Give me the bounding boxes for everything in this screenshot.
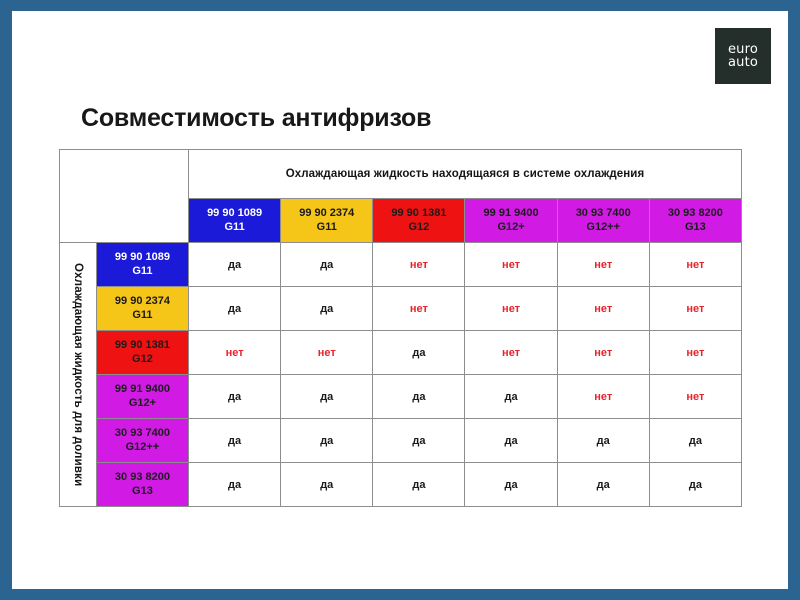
table-header-row-axis: Охлаждающая жидкость находящаяся в систе… xyxy=(60,150,742,199)
row-header-grade: G12++ xyxy=(97,441,188,455)
compatibility-cell: нет xyxy=(649,287,741,331)
table-row: Охлаждающая жидкость для доливки99 90 10… xyxy=(60,243,742,287)
row-header-grade: G12+ xyxy=(97,397,188,411)
compatibility-cell: да xyxy=(189,375,281,419)
compatibility-cell: да xyxy=(189,419,281,463)
row-header-grade: G11 xyxy=(97,265,188,279)
compatibility-cell: да xyxy=(189,243,281,287)
page-title: Совместимость антифризов xyxy=(81,104,431,133)
column-header-grade: G12++ xyxy=(558,221,649,235)
compatibility-cell: да xyxy=(373,463,465,507)
row-header-grade: G12 xyxy=(97,353,188,367)
compatibility-cell: да xyxy=(557,463,649,507)
row-header-g12[interactable]: 99 90 1381G12 xyxy=(96,331,188,375)
row-header-g12plusplus[interactable]: 30 93 7400G12++ xyxy=(96,419,188,463)
compatibility-cell: да xyxy=(373,419,465,463)
compatibility-cell: да xyxy=(281,243,373,287)
compatibility-cell: нет xyxy=(189,331,281,375)
table-row: 30 93 7400G12++дададададада xyxy=(60,419,742,463)
compatibility-cell: нет xyxy=(557,287,649,331)
row-axis-label-cell: Охлаждающая жидкость для доливки xyxy=(60,243,97,507)
table-row: 30 93 8200G13дададададада xyxy=(60,463,742,507)
compatibility-cell: нет xyxy=(373,287,465,331)
compatibility-cell: да xyxy=(465,419,557,463)
row-header-g11[interactable]: 99 90 1089G11 xyxy=(96,243,188,287)
logo-line-euro: euro xyxy=(728,43,758,56)
row-header-g11[interactable]: 99 90 2374G11 xyxy=(96,287,188,331)
row-axis-label: Охлаждающая жидкость для доливки xyxy=(71,263,85,486)
table-row: 99 90 2374G11даданетнетнетнет xyxy=(60,287,742,331)
compatibility-cell: да xyxy=(281,463,373,507)
column-header-g13[interactable]: 30 93 8200G13 xyxy=(649,199,741,243)
column-header-code: 30 93 7400 xyxy=(558,207,649,221)
compatibility-cell: да xyxy=(373,375,465,419)
slide-border-frame: euro auto Совместимость антифризов Охлаж… xyxy=(0,0,800,600)
compatibility-cell: нет xyxy=(557,243,649,287)
compatibility-cell: да xyxy=(557,419,649,463)
compatibility-cell: нет xyxy=(557,375,649,419)
column-header-g11[interactable]: 99 90 2374G11 xyxy=(281,199,373,243)
column-header-grade: G13 xyxy=(650,221,741,235)
row-header-code: 30 93 8200 xyxy=(97,471,188,485)
row-header-grade: G13 xyxy=(97,485,188,499)
column-header-g11[interactable]: 99 90 1089G11 xyxy=(189,199,281,243)
row-header-code: 99 90 1381 xyxy=(97,339,188,353)
row-header-code: 99 90 2374 xyxy=(97,295,188,309)
compatibility-cell: нет xyxy=(373,243,465,287)
compatibility-cell: да xyxy=(649,463,741,507)
compatibility-cell: нет xyxy=(281,331,373,375)
compatibility-cell: да xyxy=(281,287,373,331)
compatibility-cell: нет xyxy=(649,375,741,419)
row-header-g12plus[interactable]: 99 91 9400G12+ xyxy=(96,375,188,419)
column-header-code: 99 90 1381 xyxy=(373,207,464,221)
column-header-g12[interactable]: 99 90 1381G12 xyxy=(373,199,465,243)
column-header-code: 99 90 2374 xyxy=(281,207,372,221)
compatibility-cell: да xyxy=(281,375,373,419)
table-row: 99 90 1381G12нетнетданетнетнет xyxy=(60,331,742,375)
row-header-code: 30 93 7400 xyxy=(97,427,188,441)
column-header-code: 30 93 8200 xyxy=(650,207,741,221)
column-header-code: 99 91 9400 xyxy=(465,207,556,221)
column-axis-label: Охлаждающая жидкость находящаяся в систе… xyxy=(189,150,742,199)
logo-line-auto: auto xyxy=(728,56,758,69)
compatibility-cell: да xyxy=(373,331,465,375)
compatibility-cell: нет xyxy=(557,331,649,375)
column-header-g12plusplus[interactable]: 30 93 7400G12++ xyxy=(557,199,649,243)
row-header-grade: G11 xyxy=(97,309,188,323)
column-header-grade: G11 xyxy=(281,221,372,235)
euroauto-logo: euro auto xyxy=(715,28,771,84)
compatibility-cell: да xyxy=(465,375,557,419)
compatibility-cell: нет xyxy=(465,331,557,375)
compatibility-cell: да xyxy=(281,419,373,463)
compatibility-cell: да xyxy=(649,419,741,463)
column-header-grade: G11 xyxy=(189,221,280,235)
table-row: 99 91 9400G12+дадададанетнет xyxy=(60,375,742,419)
row-header-code: 99 90 1089 xyxy=(97,251,188,265)
compatibility-table: Охлаждающая жидкость находящаяся в систе… xyxy=(59,149,742,507)
column-header-grade: G12 xyxy=(373,221,464,235)
column-header-code: 99 90 1089 xyxy=(189,207,280,221)
column-header-g12plus[interactable]: 99 91 9400G12+ xyxy=(465,199,557,243)
compatibility-cell: да xyxy=(189,463,281,507)
compatibility-cell: да xyxy=(465,463,557,507)
compatibility-cell: нет xyxy=(465,287,557,331)
compatibility-cell: да xyxy=(189,287,281,331)
row-header-g13[interactable]: 30 93 8200G13 xyxy=(96,463,188,507)
compatibility-matrix: Охлаждающая жидкость находящаяся в систе… xyxy=(59,149,742,507)
matrix-corner-blank xyxy=(60,150,189,243)
column-header-grade: G12+ xyxy=(465,221,556,235)
compatibility-cell: нет xyxy=(465,243,557,287)
compatibility-cell: нет xyxy=(649,331,741,375)
row-header-code: 99 91 9400 xyxy=(97,383,188,397)
slide-canvas: euro auto Совместимость антифризов Охлаж… xyxy=(12,11,788,589)
compatibility-cell: нет xyxy=(649,243,741,287)
